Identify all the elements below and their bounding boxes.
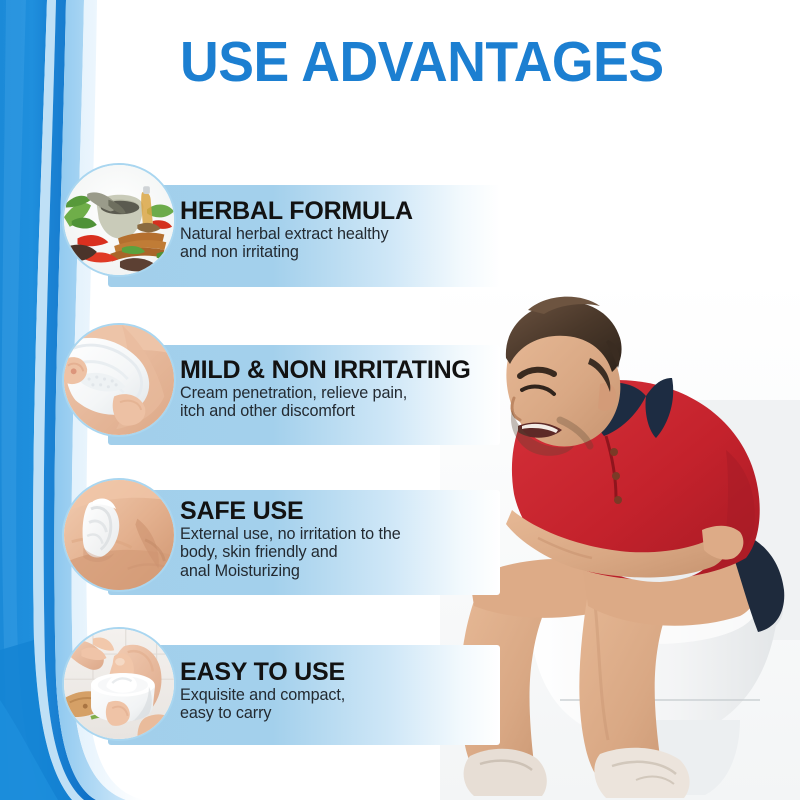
feature-title: HERBAL FORMULA [180, 198, 510, 224]
feature-subtitle: Cream penetration, relieve pain, itch an… [180, 384, 510, 421]
feature-text-safe-use: SAFE USE External use, no irritation to … [180, 498, 510, 580]
feature-text-mild-non-irritating: MILD & NON IRRITATING Cream penetration,… [180, 357, 510, 421]
page-title-wrap: USE ADVANTAGES [0, 34, 800, 91]
feature-title: EASY TO USE [180, 659, 510, 685]
feature-text-easy-to-use: EASY TO USE Exquisite and compact, easy … [180, 659, 510, 723]
feature-image-easy-to-use [62, 627, 176, 741]
feature-title: SAFE USE [180, 498, 510, 524]
feature-image-safe-use [62, 478, 176, 592]
page-title: USE ADVANTAGES [137, 34, 664, 91]
feature-image-herbal-formula [62, 163, 176, 277]
feature-text-herbal-formula: HERBAL FORMULA Natural herbal extract he… [180, 198, 510, 262]
feature-image-mild-non-irritating [62, 323, 176, 437]
feature-subtitle: Exquisite and compact, easy to carry [180, 686, 510, 723]
feature-title: MILD & NON IRRITATING [180, 357, 510, 383]
feature-subtitle: External use, no irritation to the body,… [180, 525, 510, 580]
feature-subtitle: Natural herbal extract healthy and non i… [180, 225, 510, 262]
infographic-canvas: USE ADVANTAGES [0, 0, 800, 800]
